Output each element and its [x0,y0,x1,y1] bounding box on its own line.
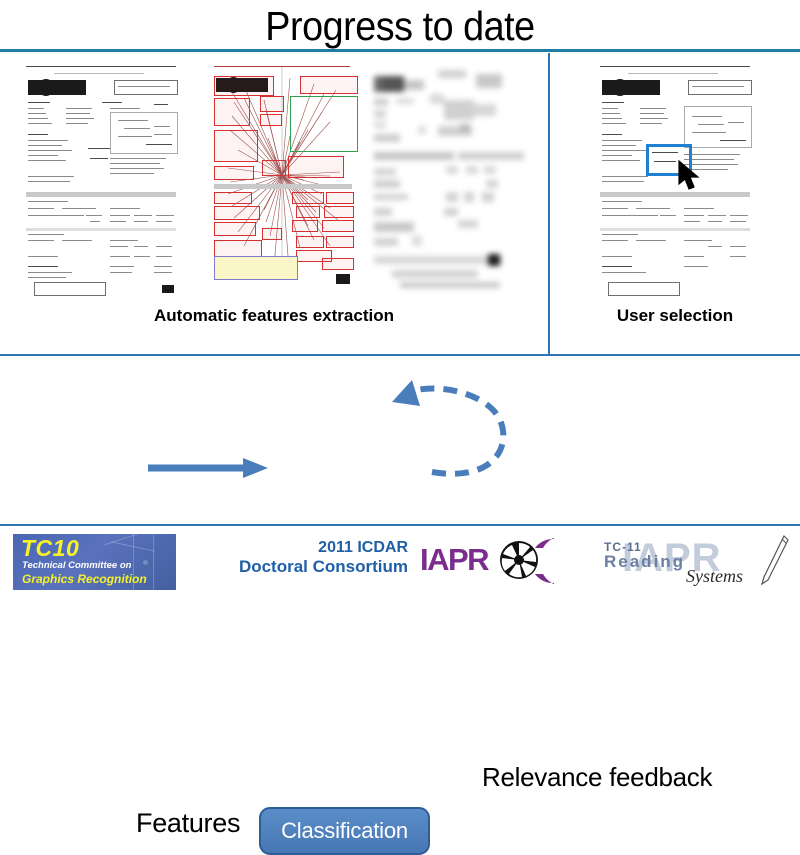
icdar-doctoral-consortium-text: 2011 ICDAR Doctoral Consortium [228,538,408,577]
iapr-wordmark: IAPR [420,542,488,578]
relevance-feedback-arrowhead [392,380,420,406]
iapr-logo: IAPR [420,538,570,586]
relevance-feedback-loop [408,388,503,473]
classification-flow-diagram: Features Relevance feedback Classificati… [0,370,800,515]
iapr-rosette-icon [492,538,554,586]
scanned-invoice-annotated[interactable] [204,60,360,296]
features-label: Features [136,808,240,839]
caption-user-selection: User selection [550,306,800,326]
relevance-feedback-label: Relevance feedback [482,762,712,793]
scanned-invoice-user-selection[interactable] [588,60,762,296]
tc10-logo: TC10 Technical Committee on Graphics Rec… [13,534,176,590]
mouse-cursor-icon [678,160,704,192]
panels-region: Automatic features extraction [0,56,800,356]
icdar-line2: Doctoral Consortium [228,557,408,577]
footer-logos: TC10 Technical Committee on Graphics Rec… [0,526,800,600]
pen-icon [758,534,792,590]
caption-automatic-features-extraction: Automatic features extraction [0,306,548,326]
tc11-reading-systems-logo: IAPR TC-11 Reading Systems [598,532,794,592]
tc10-title: TC10 [21,535,79,562]
panel-vertical-divider [548,53,550,355]
title-divider-rule [0,49,800,52]
tc11-reading-label: Reading [604,552,685,572]
blurred-feature-map[interactable] [366,64,536,294]
section-divider-rule [0,354,800,356]
icdar-line1: 2011 ICDAR [228,538,408,557]
features-arrow [148,458,268,478]
page-title: Progress to date [32,2,768,50]
scanned-invoice-original[interactable] [14,60,188,296]
classification-node[interactable]: Classification [259,807,430,855]
tc10-line1: Technical Committee on [22,560,131,571]
tc10-line2: Graphics Recognition [22,572,147,586]
tc11-systems-label: Systems [686,566,743,587]
